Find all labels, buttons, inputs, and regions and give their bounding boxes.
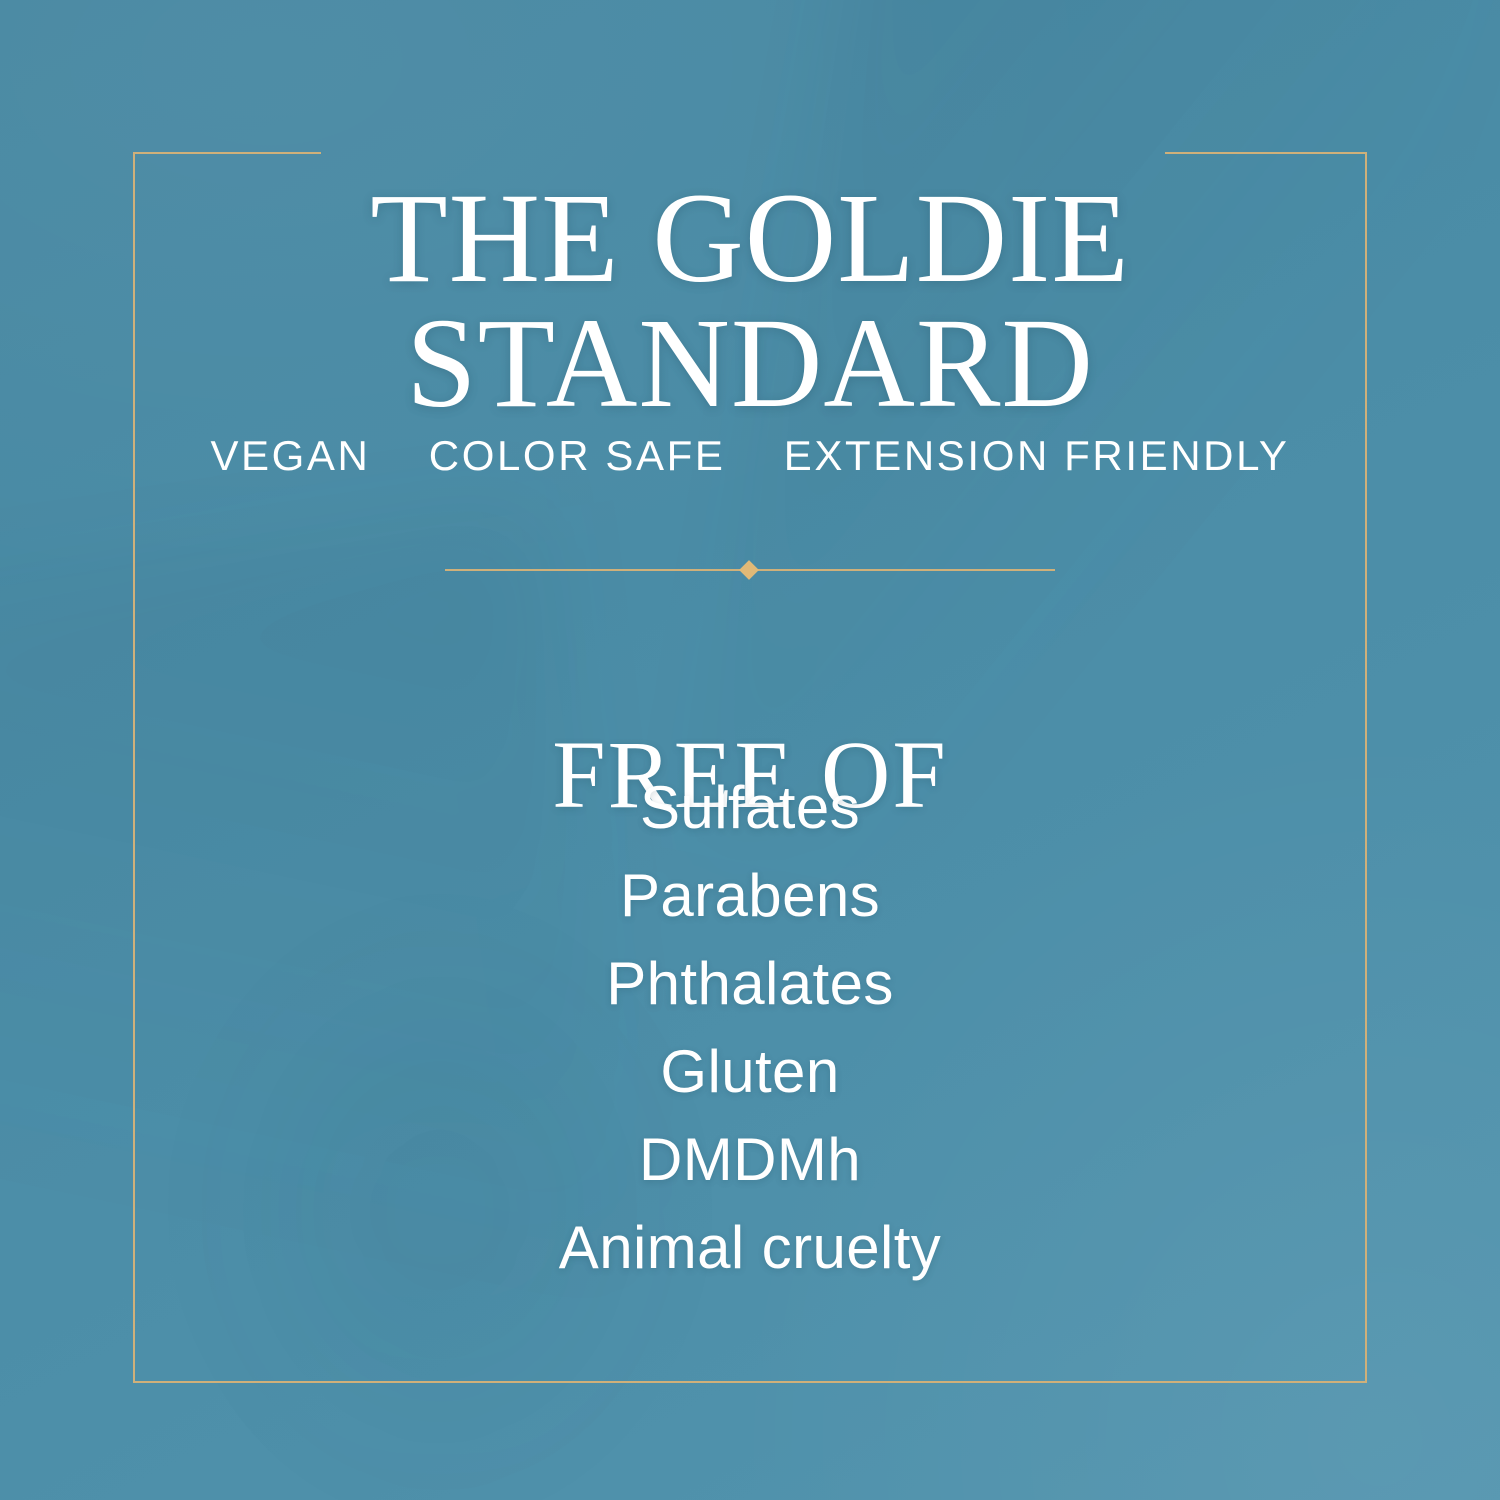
frame-top-right-segment [1165,152,1367,154]
ornamental-divider [445,560,1055,580]
claims-row: VEGAN COLOR SAFE EXTENSION FRIENDLY [0,432,1500,480]
page-title-line-1: THE GOLDIE [8,176,1493,301]
product-claims-graphic: THE GOLDIE STANDARD VEGAN COLOR SAFE EXT… [0,0,1500,1500]
list-item: Parabens [0,866,1500,954]
list-item: Phthalates [0,954,1500,1042]
claim-vegan: VEGAN [210,432,370,480]
list-item: DMDMh [0,1130,1500,1218]
list-item: Sulfates [0,778,1500,866]
page-title: THE GOLDIE STANDARD [0,176,1500,427]
list-item: Animal cruelty [0,1218,1500,1306]
frame-bottom-edge [133,1381,1367,1383]
diamond-icon [739,560,759,580]
frame-top-left-segment [133,152,321,154]
claim-color-safe: COLOR SAFE [429,432,726,480]
page-title-line-2: STANDARD [8,301,1493,426]
claim-extension-friendly: EXTENSION FRIENDLY [784,432,1290,480]
free-of-list: Sulfates Parabens Phthalates Gluten DMDM… [0,778,1500,1306]
list-item: Gluten [0,1042,1500,1130]
